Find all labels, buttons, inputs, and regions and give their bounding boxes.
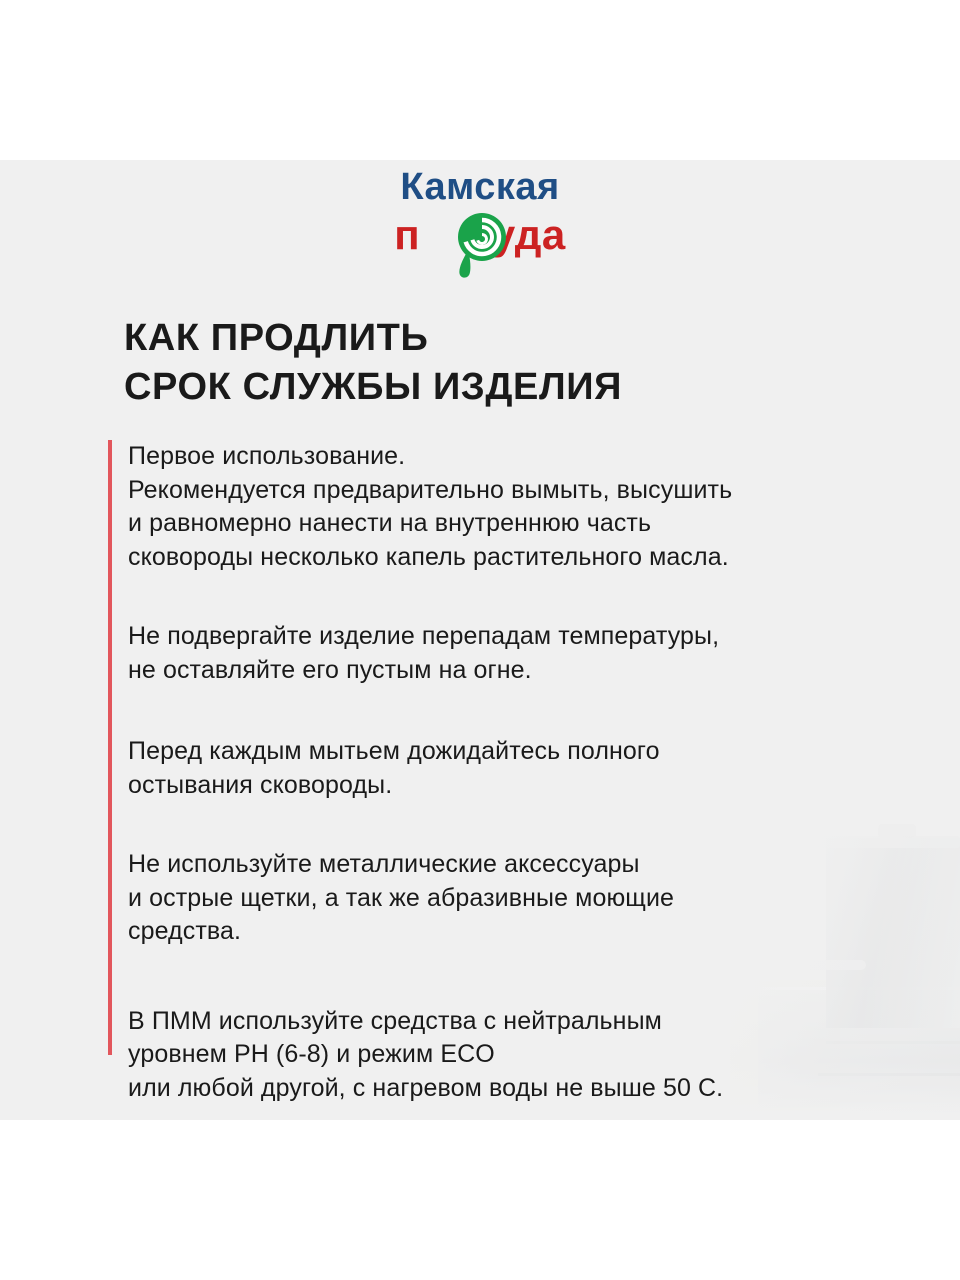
pan-spiral-icon <box>452 210 508 280</box>
page-title: КАК ПРОДЛИТЬ СРОК СЛУЖБЫ ИЗДЕЛИЯ <box>124 314 824 411</box>
page-title-line2: СРОК СЛУЖБЫ ИЗДЕЛИЯ <box>124 363 824 412</box>
list-item: Первое использование. Рекомендуется пред… <box>128 440 868 574</box>
brand-logo: Камская псуда <box>0 168 960 256</box>
brand-logo-line2-prefix: п <box>394 211 420 258</box>
list-item: Не используйте металлические аксессуары … <box>128 848 868 949</box>
page-title-line1: КАК ПРОДЛИТЬ <box>124 317 428 359</box>
list-item: Не подвергайте изделие перепадам темпера… <box>128 620 868 687</box>
accent-rule <box>108 440 112 1055</box>
list-item: В ПММ используйте средства с нейтральным… <box>128 1005 868 1106</box>
tips-list: Первое использование. Рекомендуется пред… <box>128 440 868 1105</box>
infographic-page: Камская псуда КАК ПРОДЛИТЬ СРОК СЛУЖБЫ И… <box>0 0 960 1280</box>
pot-knob-shape <box>878 824 916 838</box>
list-item: Перед каждым мытьем дожидайтесь полного … <box>128 735 868 802</box>
brand-logo-line2: псуда <box>394 214 566 256</box>
brand-logo-line1: Камская <box>0 168 960 206</box>
